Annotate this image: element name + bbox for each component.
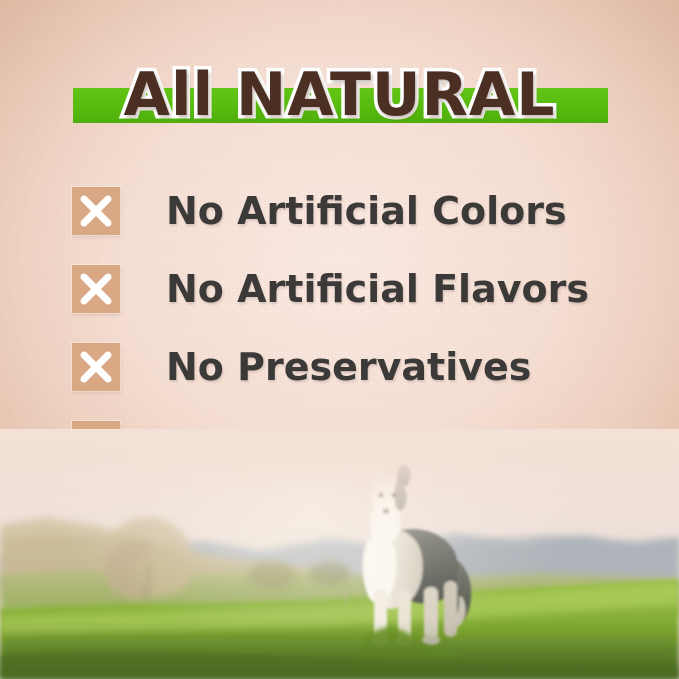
all-natural-poster: All NATURAL No Artificial Colors	[0, 0, 679, 679]
page-title: All NATURAL	[0, 52, 679, 138]
x-mark-icon	[72, 343, 120, 391]
claim-row: No Artificial Colors	[72, 172, 632, 250]
dog-landscape-photo	[0, 429, 679, 679]
claim-label: No Artificial Flavors	[166, 270, 589, 308]
claim-label: No Preservatives	[166, 348, 531, 386]
claim-row: No Artificial Flavors	[72, 250, 632, 328]
photo-illustration	[0, 429, 679, 679]
x-mark-icon	[72, 265, 120, 313]
title-banner: All NATURAL	[0, 52, 679, 142]
claim-label: No Artificial Colors	[166, 192, 567, 230]
claim-row: No Preservatives	[72, 328, 632, 406]
x-mark-icon	[72, 187, 120, 235]
